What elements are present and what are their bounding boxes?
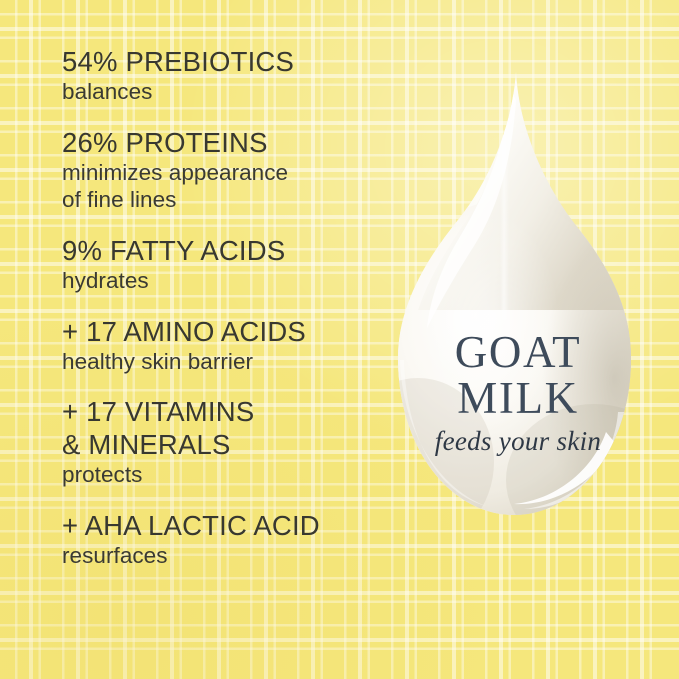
ingredient-title: + 17 VITAMINS & MINERALS: [62, 396, 382, 461]
infographic-canvas: 54% PREBIOTICS balances 26% PROTEINS min…: [0, 0, 679, 679]
ingredient-description: balances: [62, 79, 382, 106]
droplet-body: [378, 72, 658, 556]
ingredient-item-prebiotics: 54% PREBIOTICS balances: [62, 46, 382, 106]
ingredient-title: + AHA LACTIC ACID: [62, 510, 382, 542]
ingredient-description: healthy skin barrier: [62, 349, 382, 376]
ingredient-title: 54% PREBIOTICS: [62, 46, 382, 78]
ingredient-item-vitamins-minerals: + 17 VITAMINS & MINERALS protects: [62, 396, 382, 488]
milk-droplet-illustration: [378, 60, 658, 560]
ingredient-item-aha-lactic-acid: + AHA LACTIC ACID resurfaces: [62, 510, 382, 570]
ingredient-list: 54% PREBIOTICS balances 26% PROTEINS min…: [62, 46, 382, 570]
ingredient-title: 9% FATTY ACIDS: [62, 235, 382, 267]
ingredient-item-fatty-acids: 9% FATTY ACIDS hydrates: [62, 235, 382, 295]
ingredient-item-amino-acids: + 17 AMINO ACIDS healthy skin barrier: [62, 316, 382, 376]
ingredient-description: protects: [62, 462, 382, 489]
ingredient-title: 26% PROTEINS: [62, 127, 382, 159]
ingredient-description: resurfaces: [62, 543, 382, 570]
ingredient-description: minimizes appearance of fine lines: [62, 160, 382, 213]
ingredient-title: + 17 AMINO ACIDS: [62, 316, 382, 348]
ingredient-description: hydrates: [62, 268, 382, 295]
ingredient-item-proteins: 26% PROTEINS minimizes appearance of fin…: [62, 127, 382, 214]
